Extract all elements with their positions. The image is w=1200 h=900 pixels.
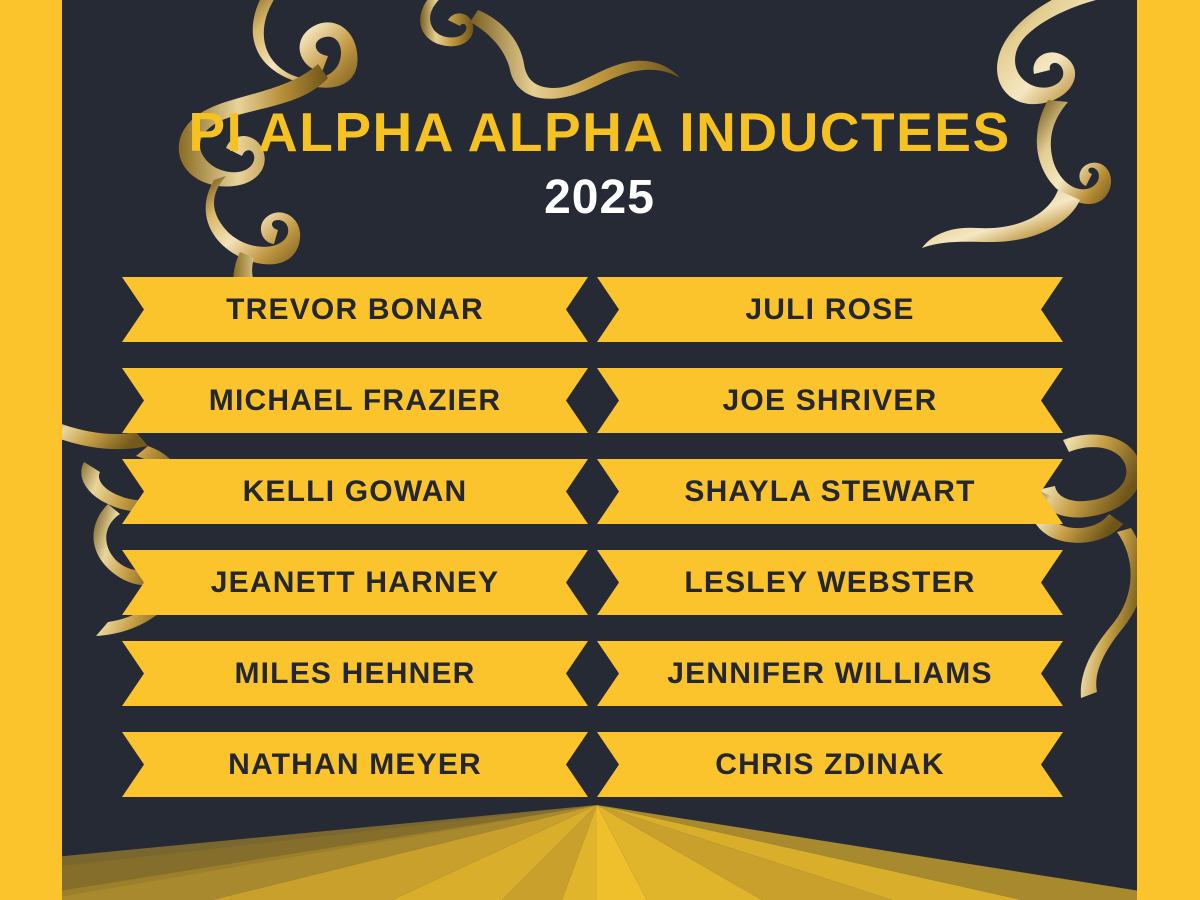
inductee-banner: CHRIS ZDINAK: [597, 732, 1063, 797]
inductee-banner: JOE SHRIVER: [597, 368, 1063, 433]
year-subtitle: 2025: [62, 174, 1137, 222]
inductee-name: KELLI GOWAN: [243, 475, 468, 509]
inductee-name: JEANETT HARNEY: [211, 566, 500, 600]
inductee-banner: JULI ROSE: [597, 277, 1063, 342]
inductee-banner: SHAYLA STEWART: [597, 459, 1063, 524]
inductee-name: CHRIS ZDINAK: [715, 748, 944, 782]
inductee-name: SHAYLA STEWART: [684, 475, 975, 509]
inductee-banner: MICHAEL FRAZIER: [122, 368, 588, 433]
inductee-name: JOE SHRIVER: [723, 384, 938, 418]
inductee-banner: JEANETT HARNEY: [122, 550, 588, 615]
inductee-name: LESLEY WEBSTER: [684, 566, 975, 600]
inductee-banner: JENNIFER WILLIAMS: [597, 641, 1063, 706]
poster-canvas: PI ALPHA ALPHA INDUCTEES 2025 TREVOR BON…: [0, 0, 1200, 900]
inductee-name: JULI ROSE: [745, 293, 914, 327]
inductee-banner: LESLEY WEBSTER: [597, 550, 1063, 615]
inductee-name: TREVOR BONAR: [226, 293, 484, 327]
inductee-name: MICHAEL FRAZIER: [209, 384, 501, 418]
inductee-name: MILES HEHNER: [234, 657, 475, 691]
inductee-name: JENNIFER WILLIAMS: [667, 657, 992, 691]
inductee-banner: NATHAN MEYER: [122, 732, 588, 797]
inductee-name: NATHAN MEYER: [228, 748, 482, 782]
inductee-banner: KELLI GOWAN: [122, 459, 588, 524]
inductee-name-grid: TREVOR BONARJULI ROSEMICHAEL FRAZIERJOE …: [122, 277, 1063, 797]
title-block: PI ALPHA ALPHA INDUCTEES 2025: [62, 104, 1137, 222]
streamer-top-center-icon: [382, 0, 682, 114]
inductee-banner: TREVOR BONAR: [122, 277, 588, 342]
page-title: PI ALPHA ALPHA INDUCTEES: [62, 104, 1137, 162]
inductee-banner: MILES HEHNER: [122, 641, 588, 706]
